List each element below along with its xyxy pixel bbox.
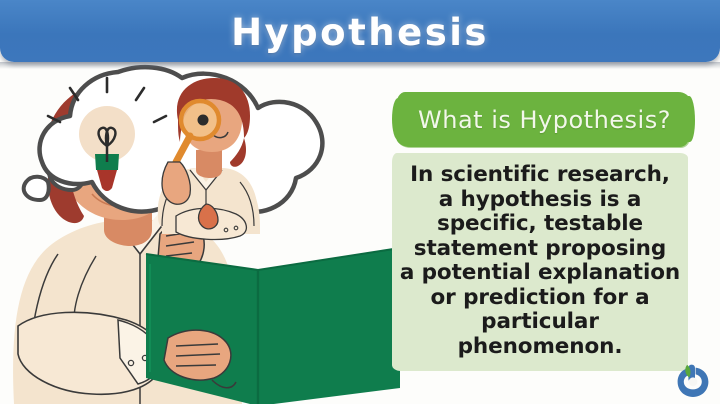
- biology-online-logo[interactable]: [676, 364, 710, 398]
- definition-body-box: In scientific research, a hypothesis is …: [392, 153, 688, 371]
- definition-heading-text: What is Hypothesis?: [396, 106, 671, 134]
- page-title: Hypothesis: [231, 11, 489, 54]
- banner-shadow: [0, 62, 720, 69]
- definition-body-text: In scientific research, a hypothesis is …: [398, 163, 682, 359]
- banner: Hypothesis: [0, 0, 720, 62]
- infographic-canvas: Hypothesis What is Hypothesis? In scient…: [0, 0, 720, 404]
- definition-heading-banner: What is Hypothesis?: [396, 92, 690, 147]
- definition-card: What is Hypothesis? In scientific resear…: [392, 92, 694, 371]
- illustration: [0, 58, 400, 404]
